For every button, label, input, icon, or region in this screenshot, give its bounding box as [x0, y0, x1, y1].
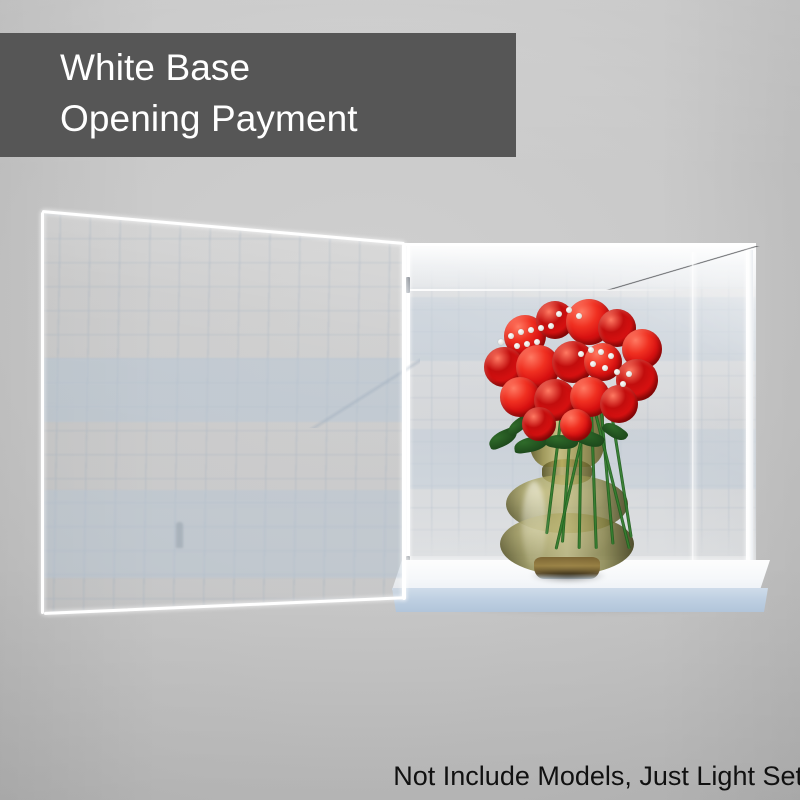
babys-breath-floret — [524, 341, 530, 347]
babys-breath-floret — [620, 381, 626, 387]
disclaimer-caption: Not Include Models, Just Light Set — [393, 759, 800, 793]
babys-breath-floret — [590, 361, 596, 367]
babys-breath-floret — [534, 339, 540, 345]
babys-breath-floret — [508, 333, 514, 339]
babys-breath-floret — [518, 329, 524, 335]
bouquet-babys-breath — [470, 285, 670, 585]
babys-breath-floret — [528, 327, 534, 333]
case-back-corner-post — [692, 252, 695, 564]
acrylic-door-panel — [0, 190, 420, 630]
door-figure-reflection — [176, 522, 183, 548]
case-top-panel — [404, 243, 756, 289]
door-edge-left — [41, 212, 44, 614]
babys-breath-floret — [588, 347, 594, 353]
rose-bouquet — [470, 285, 670, 585]
babys-breath-floret — [614, 369, 620, 375]
babys-breath-floret — [576, 313, 582, 319]
babys-breath-floret — [548, 323, 554, 329]
babys-breath-floret — [538, 325, 544, 331]
babys-breath-floret — [566, 307, 572, 313]
white-base-front-edge — [392, 588, 768, 612]
babys-breath-floret — [602, 365, 608, 371]
babys-breath-floret — [514, 343, 520, 349]
babys-breath-floret — [498, 339, 504, 345]
door-edge-right — [402, 244, 406, 600]
product-image-canvas: White Base Opening Payment Not Include M… — [0, 0, 800, 800]
babys-breath-floret — [626, 371, 632, 377]
babys-breath-floret — [598, 349, 604, 355]
babys-breath-floret — [556, 311, 562, 317]
banner-line-2: Opening Payment — [60, 93, 516, 144]
title-banner: White Base Opening Payment — [0, 33, 516, 157]
case-right-corner-post — [746, 250, 753, 570]
babys-breath-floret — [578, 351, 584, 357]
babys-breath-floret — [608, 353, 614, 359]
banner-line-1: White Base — [60, 42, 516, 93]
